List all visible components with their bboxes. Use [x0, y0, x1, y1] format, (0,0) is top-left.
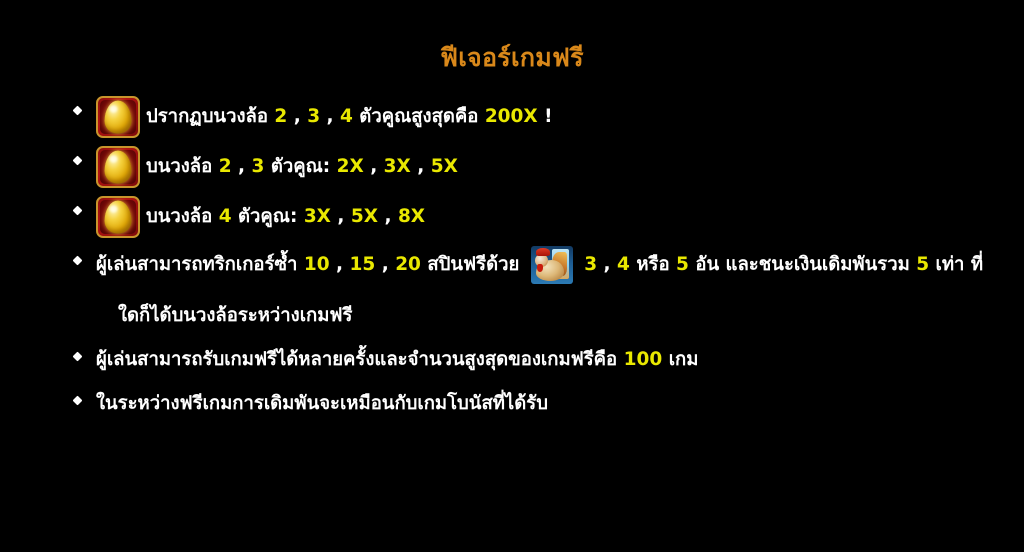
- bullet-line: ปรากฏบนวงล้อ 2 , 3 , 4 ตัวคูณสูงสุดคือ 2…: [96, 96, 1000, 138]
- rooster-comb: [536, 248, 550, 256]
- golden-egg-icon: [96, 196, 140, 238]
- bullet-max-free-games: ผู้เล่นสามารถรับเกมฟรีได้หลายครั้งและจำน…: [70, 342, 1000, 378]
- egg-shape: [105, 201, 132, 234]
- highlight-value: 100: [624, 348, 663, 373]
- highlight-value: 5X: [431, 155, 458, 180]
- bullet-text: ,: [378, 205, 398, 230]
- bullet-text: เกม: [662, 348, 698, 373]
- highlight-value: 8X: [398, 205, 425, 230]
- bullet-text: !: [538, 105, 553, 130]
- diamond-bullet-icon: [73, 206, 83, 216]
- diamond-bullet-icon: [73, 106, 83, 116]
- highlight-value: 20: [395, 253, 421, 278]
- egg-shape: [105, 101, 132, 134]
- bullet-text: สปินฟรีด้วย: [421, 253, 526, 278]
- highlight-value: 10: [304, 253, 330, 278]
- highlight-value: 4: [617, 253, 630, 278]
- highlight-value: 5: [676, 253, 689, 278]
- bullet-retrigger-free-spins: ผู้เล่นสามารถทริกเกอร์ซ้ำ 10 , 15 , 20 ส…: [70, 246, 1000, 334]
- highlight-value: 3X: [384, 155, 411, 180]
- bullet-text: ตัวคูณ:: [232, 205, 304, 230]
- highlight-value: 5X: [351, 205, 378, 230]
- highlight-value: 3: [307, 105, 320, 130]
- bullet-text: ,: [597, 253, 617, 278]
- bullet-text: ผู้เล่นสามารถทริกเกอร์ซ้ำ: [96, 253, 304, 278]
- highlight-value: 2X: [337, 155, 364, 180]
- highlight-value: 4: [340, 105, 353, 130]
- bullet-text: ,: [331, 205, 351, 230]
- free-game-feature-panel: ฟีเจอร์เกมฟรี ปรากฏบนวงล้อ 2 , 3 , 4 ตัว…: [0, 0, 1024, 552]
- bullet-line: บนวงล้อ 4 ตัวคูณ: 3X , 5X , 8X: [96, 196, 1000, 238]
- bullet-text: ,: [364, 155, 384, 180]
- bullet-egg-reels-23-multiplier: บนวงล้อ 2 , 3 ตัวคูณ: 2X , 3X , 5X: [70, 146, 1000, 188]
- highlight-value: 15: [350, 253, 376, 278]
- highlight-value: 3: [252, 155, 265, 180]
- bullet-text: ผู้เล่นสามารถรับเกมฟรีได้หลายครั้งและจำน…: [96, 348, 624, 373]
- highlight-value: 4: [219, 205, 232, 230]
- bullet-text: ใดก็ได้บนวงล้อระหว่างเกมฟรี: [118, 304, 352, 329]
- bullet-text: ,: [287, 105, 307, 130]
- bullet-text: ,: [375, 253, 395, 278]
- feature-bullet-list: ปรากฏบนวงล้อ 2 , 3 , 4 ตัวคูณสูงสุดคือ 2…: [70, 96, 1000, 430]
- bullet-text: อัน และชนะเงินเดิมพันรวม: [689, 253, 916, 278]
- highlight-value: 200X: [485, 105, 538, 130]
- bullet-egg-reel-4-multiplier: บนวงล้อ 4 ตัวคูณ: 3X , 5X , 8X: [70, 196, 1000, 238]
- bullet-line-continuation: ใดก็ได้บนวงล้อระหว่างเกมฟรี: [96, 298, 1000, 334]
- bullet-text: หรือ: [630, 253, 676, 278]
- egg-shape: [105, 151, 132, 184]
- bullet-text: ตัวคูณสูงสุดคือ: [353, 105, 485, 130]
- bullet-text: ปรากฏบนวงล้อ: [146, 105, 274, 130]
- bullet-line: ผู้เล่นสามารถทริกเกอร์ซ้ำ 10 , 15 , 20 ส…: [96, 246, 1000, 284]
- bullet-text: บนวงล้อ: [146, 155, 219, 180]
- diamond-bullet-icon: [73, 256, 83, 266]
- highlight-value: 3: [584, 253, 597, 278]
- highlight-value: 2: [219, 155, 232, 180]
- bullet-text: เท่า ที่: [929, 253, 983, 278]
- bullet-line: ผู้เล่นสามารถรับเกมฟรีได้หลายครั้งและจำน…: [96, 342, 1000, 378]
- rooster-wattle: [537, 264, 543, 272]
- golden-egg-icon: [96, 96, 140, 138]
- page-title: ฟีเจอร์เกมฟรี: [0, 44, 1024, 72]
- highlight-value: 3X: [304, 205, 331, 230]
- bullet-text: บนวงล้อ: [146, 205, 219, 230]
- bullet-text: ในระหว่างฟรีเกมการเดิมพันจะเหมือนกับเกมโ…: [96, 392, 548, 417]
- rooster-scatter-icon: [531, 246, 573, 284]
- diamond-bullet-icon: [73, 156, 83, 166]
- bullet-line: บนวงล้อ 2 , 3 ตัวคูณ: 2X , 3X , 5X: [96, 146, 1000, 188]
- highlight-value: 2: [274, 105, 287, 130]
- bullet-egg-reels-234: ปรากฏบนวงล้อ 2 , 3 , 4 ตัวคูณสูงสุดคือ 2…: [70, 96, 1000, 138]
- golden-egg-icon: [96, 146, 140, 188]
- diamond-bullet-icon: [73, 352, 83, 362]
- bullet-line: ในระหว่างฟรีเกมการเดิมพันจะเหมือนกับเกมโ…: [96, 386, 1000, 422]
- diamond-bullet-icon: [73, 396, 83, 406]
- highlight-value: 5: [916, 253, 929, 278]
- bullet-text: ,: [320, 105, 340, 130]
- bullet-bet-same-as-bonus: ในระหว่างฟรีเกมการเดิมพันจะเหมือนกับเกมโ…: [70, 386, 1000, 422]
- bullet-text: ,: [411, 155, 431, 180]
- bullet-text: ,: [232, 155, 252, 180]
- bullet-text: ตัวคูณ:: [264, 155, 336, 180]
- bullet-text: ,: [330, 253, 350, 278]
